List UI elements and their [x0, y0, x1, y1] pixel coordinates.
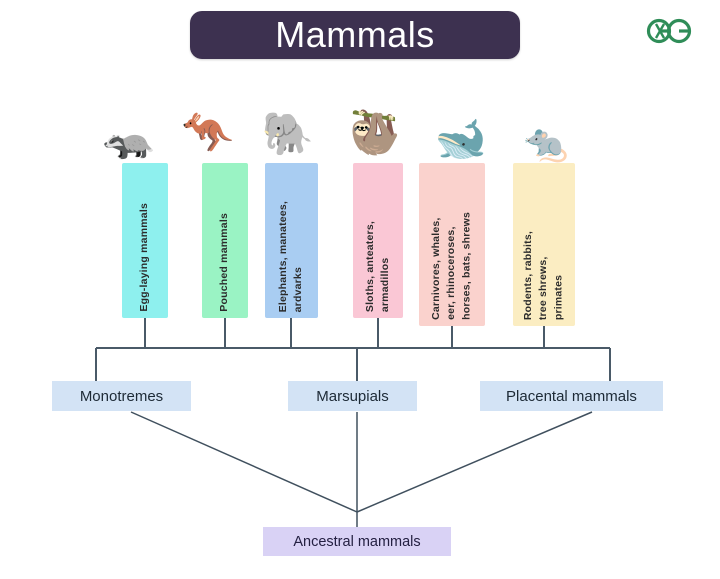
column-egg-laying-labelwrap: Egg-laying mammals	[122, 163, 168, 318]
column-egg-laying-label: Egg-laying mammals	[137, 203, 152, 312]
kangaroo-illustration: 🦘	[171, 92, 245, 154]
kangaroo-glyph: 🦘	[182, 112, 234, 154]
column-pouched-label: Pouched mammals	[217, 213, 232, 312]
order-placental[interactable]: Placental mammals	[480, 381, 663, 411]
whale-illustration: 🐋	[424, 98, 498, 160]
column-pouched-labelwrap: Pouched mammals	[202, 163, 248, 318]
diagram-canvas: Mammals 🦡 🦘 🐘 🦥 🐋 🐀 Egg-laying mamma	[0, 0, 720, 579]
echidna-glyph: 🦡	[103, 117, 155, 159]
elephant-illustration: 🐘	[251, 93, 325, 155]
sloth-glyph: 🦥	[349, 112, 401, 154]
column-sloths-label: Sloths, anteaters, armadillos	[363, 221, 393, 312]
whale-glyph: 🐋	[435, 118, 487, 160]
order-placental-label: Placental mammals	[506, 388, 637, 405]
column-elephants-label: Elephants, manatees, ardvarks	[276, 201, 306, 312]
page-title: Mammals	[190, 11, 520, 59]
order-marsupials[interactable]: Marsupials	[288, 381, 417, 411]
column-sloths[interactable]: Sloths, anteaters, armadillos	[353, 163, 403, 318]
column-pouched[interactable]: Pouched mammals	[202, 163, 248, 318]
order-monotremes[interactable]: Monotremes	[52, 381, 191, 411]
column-carnivores-label: Carnivores, whales, eer, rhinoceroses, h…	[429, 212, 475, 320]
column-rodents-label: Rodents, rabbits, tree shrews, primates	[521, 231, 567, 320]
column-carnivores-labelwrap: Carnivores, whales, eer, rhinoceroses, h…	[419, 163, 485, 326]
geeksforgeeks-logo	[644, 16, 696, 46]
column-rodents[interactable]: Rodents, rabbits, tree shrews, primates	[513, 163, 575, 326]
elephant-glyph: 🐘	[262, 113, 314, 155]
sloth-illustration: 🦥	[338, 92, 412, 154]
column-egg-laying[interactable]: Egg-laying mammals	[122, 163, 168, 318]
column-sloths-labelwrap: Sloths, anteaters, armadillos	[353, 163, 403, 318]
column-rodents-labelwrap: Rodents, rabbits, tree shrews, primates	[513, 163, 575, 326]
rat-illustration: 🐀	[509, 99, 583, 161]
column-elephants-labelwrap: Elephants, manatees, ardvarks	[265, 163, 318, 318]
page-title-text: Mammals	[275, 17, 435, 53]
column-carnivores[interactable]: Carnivores, whales, eer, rhinoceroses, h…	[419, 163, 485, 326]
column-elephants[interactable]: Elephants, manatees, ardvarks	[265, 163, 318, 318]
ancestral-mammals-box[interactable]: Ancestral mammals	[263, 527, 451, 556]
rat-glyph: 🐀	[524, 125, 569, 161]
order-monotremes-label: Monotremes	[80, 388, 163, 405]
order-marsupials-label: Marsupials	[316, 388, 389, 405]
ancestral-mammals-label: Ancestral mammals	[293, 534, 420, 550]
echidna-illustration: 🦡	[92, 97, 166, 159]
